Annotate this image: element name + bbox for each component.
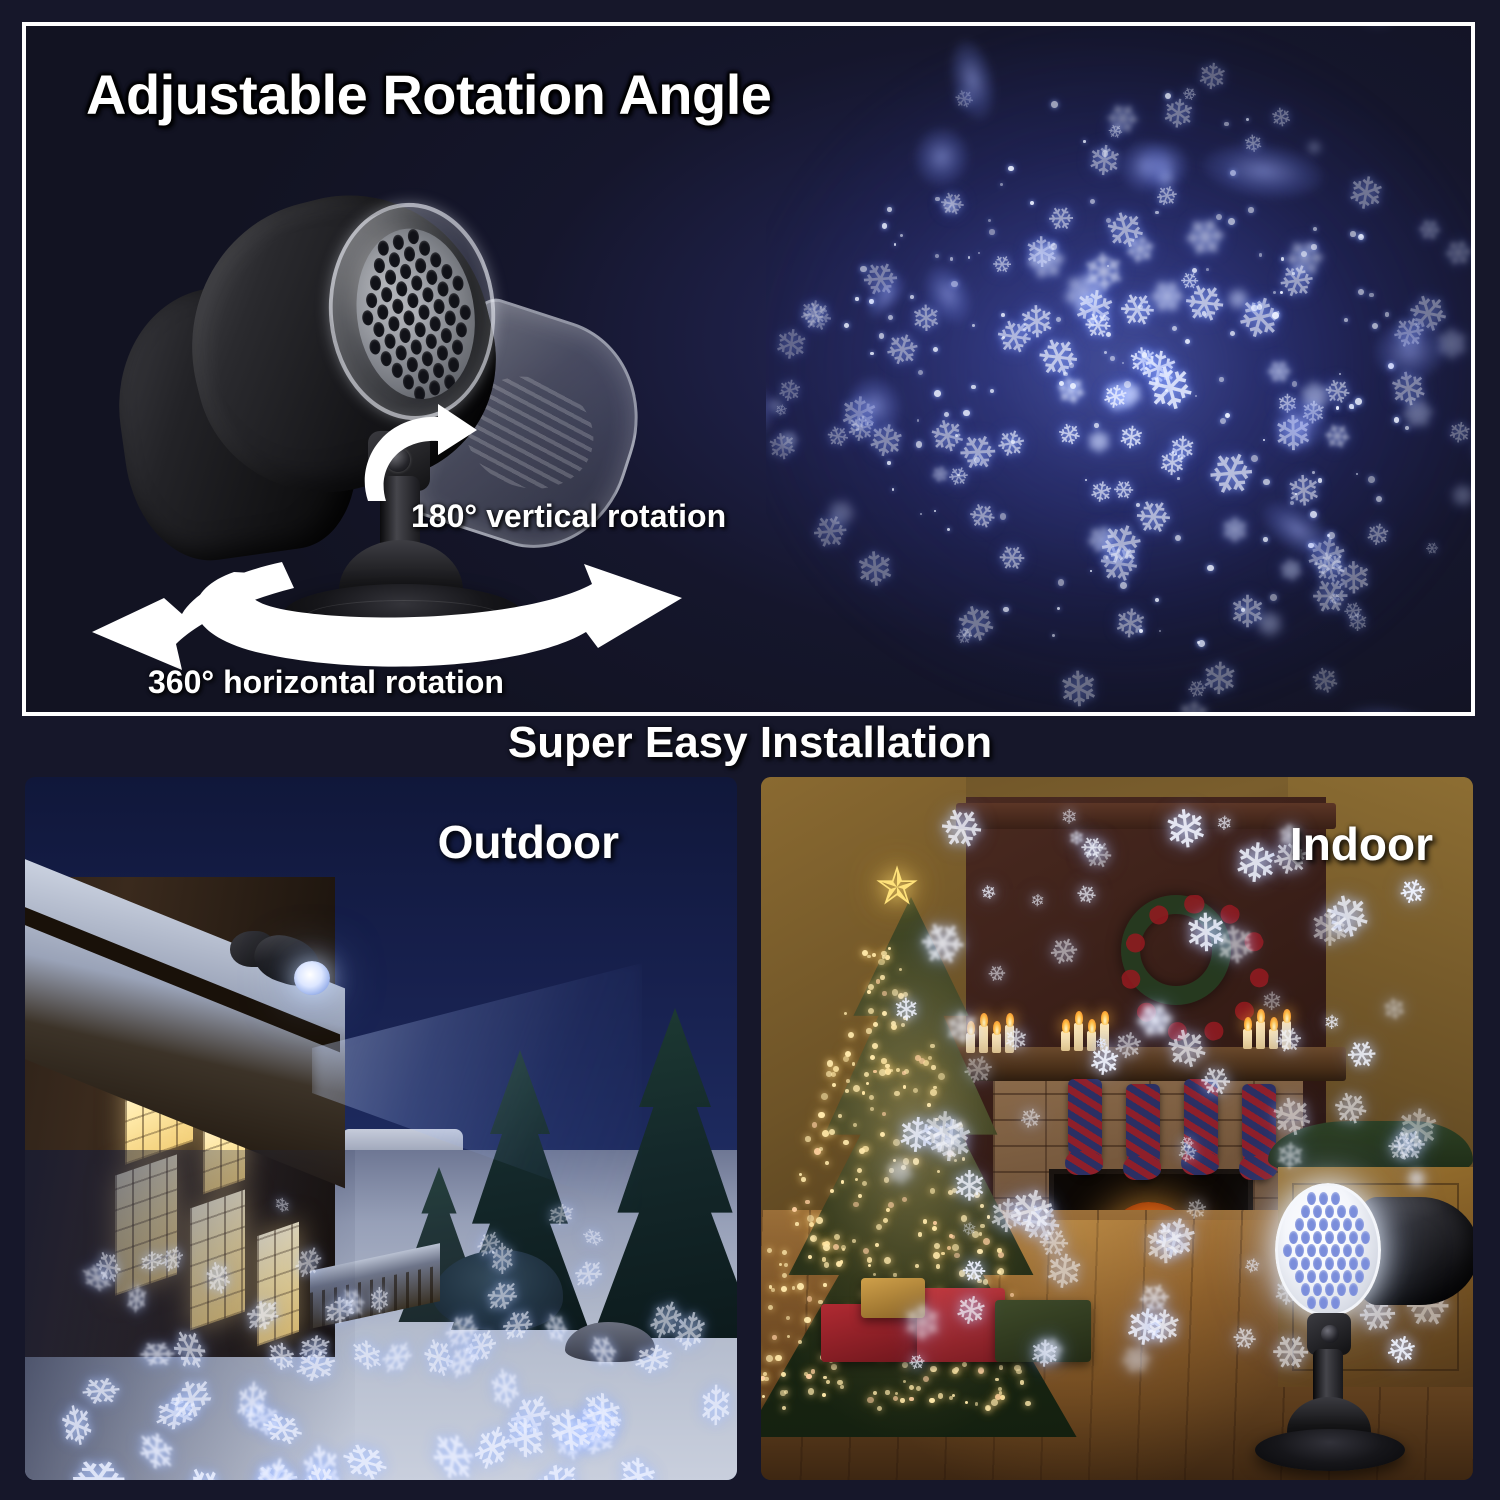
light-particle [1085,479,1087,481]
light-particle [1292,381,1297,386]
light-particle [955,434,958,437]
led-dot [1349,1283,1358,1296]
tree-light [876,1224,882,1230]
tree-light [779,1263,782,1266]
light-particle [1241,608,1245,612]
tree-light [978,1368,984,1374]
tree-light [784,1390,788,1394]
tree-light [818,1112,825,1119]
snowflake-icon: ❄ [1056,661,1099,712]
light-particle [1102,150,1109,157]
tree-light [848,1032,855,1039]
led-dot [1349,1231,1358,1244]
snowflake-icon: ❄ [1043,204,1077,233]
tree-light [782,1406,786,1410]
snowflake-icon: ❄ [138,1247,165,1279]
light-particle [1202,311,1206,315]
tree-light [885,955,890,960]
tree-light [890,1069,894,1073]
led-dot [1325,1283,1334,1296]
tree-light [809,1222,814,1227]
led-hole [405,355,419,374]
light-particle [1195,395,1197,397]
tree-light [952,1244,959,1251]
led-dot [1313,1231,1322,1244]
light-particle [1172,326,1177,331]
led-hole [450,338,464,357]
snowflake-icon: ❄ [986,963,1010,983]
tree-light [866,1028,871,1033]
light-particle [1175,535,1181,541]
tree-light [795,1222,799,1226]
tree-light [782,1273,787,1278]
light-smear [1335,695,1462,712]
tree-light [830,1189,834,1193]
tree-light [822,1393,826,1397]
tree-light [885,1390,889,1394]
led-hole [406,291,420,310]
light-particle [1124,381,1131,388]
led-hole [369,274,383,293]
led-hole [443,309,457,328]
tree-light [902,1197,907,1202]
led-hole [402,309,416,328]
tree-light [886,1208,890,1212]
led-hole [387,250,401,269]
led-hole [435,344,449,363]
tree-light [784,1263,788,1267]
light-particle [1230,331,1235,336]
tree-light [832,1083,836,1087]
installation-heading: Super Easy Installation [0,718,1500,768]
led-dot [1307,1296,1316,1309]
light-particle [1001,313,1005,317]
tree-light [771,1288,775,1292]
led-hole [372,256,386,275]
snowflake-icon: ❄ [688,1370,737,1437]
led-hole [372,320,386,339]
led-hole [454,320,468,339]
tree-light [798,1340,802,1344]
led-dot [1331,1192,1340,1205]
light-particle [963,410,970,417]
tree-light [841,1245,846,1250]
tree-light [787,1335,790,1338]
led-dot [1361,1231,1370,1244]
led-dot [1319,1296,1328,1309]
light-particle [860,266,867,273]
projector-adjust-screw [1321,1325,1339,1343]
snowflake-icon: ❄ [544,1201,578,1231]
tree-light [902,1071,906,1075]
light-particle [1259,253,1262,256]
tree-light [918,1232,923,1237]
tree-light [845,1089,849,1093]
tree-light [799,1173,802,1176]
light-particle [1003,607,1008,612]
tree-light [931,1065,935,1069]
tree-star-icon: ✯ [873,863,921,911]
led-hole [387,314,401,333]
tree-light [934,1243,940,1249]
light-smear [1329,26,1415,39]
tree-light [843,1140,848,1145]
tree-light [862,1091,865,1094]
tree-light [885,1064,890,1069]
horizontal-rotation-label: 360° horizontal rotation [148,664,504,701]
light-particle [1063,372,1068,377]
tree-light [1025,1401,1031,1407]
led-dot [1301,1257,1310,1270]
light-particle [917,419,920,422]
indoor-scene-panel: ✯ ❄❄❄❄❄❄❄❄❄❄❄❄❄❄❄❄❄❄❄❄❄❄❄❄❄❄❄❄❄❄❄❄❄❄❄❄❄❄… [761,777,1473,1480]
tree-light [823,1376,827,1380]
page-title: Adjustable Rotation Angle [86,62,771,127]
snowflake-icon: ❄ [1179,1135,1197,1151]
light-particle [1000,513,1006,519]
tree-light [954,1367,959,1372]
led-hole [424,332,438,351]
tree-light [857,1168,862,1173]
tree-light [875,1243,879,1247]
snowflake-icon: ❄ [1132,998,1183,1042]
led-hole [391,297,405,316]
led-hole [406,227,420,246]
projector-device-illustration [96,176,696,696]
tree-light [882,1112,886,1116]
projector-lens [1275,1183,1381,1317]
tree-light [999,1391,1002,1394]
tree-light [853,1202,859,1208]
led-dot [1295,1270,1304,1283]
adjustable-rotation-panel: ❄❄❄❄❄❄❄❄❄❄❄❄❄❄❄❄❄❄❄❄❄❄❄❄❄❄❄❄❄❄❄❄❄❄❄❄❄❄❄❄… [22,22,1475,716]
tree-light [880,975,885,980]
light-particle [1216,214,1222,220]
mounted-projector [220,925,330,1005]
light-particle [1069,363,1074,368]
tree-light [826,1380,830,1384]
tree-light [933,1221,937,1225]
light-particle [910,295,914,299]
led-dot [1349,1257,1358,1270]
snowflake-icon: ❄ [1017,296,1056,342]
light-particle [855,297,858,300]
light-particle [1273,291,1276,294]
tree-light [876,979,880,983]
led-dot [1343,1244,1352,1257]
tree-light [995,1378,999,1382]
tree-light [810,1235,817,1242]
tree-light [916,1386,921,1391]
led-dot [1307,1270,1316,1283]
led-hole [439,326,453,345]
light-particle [1088,298,1092,302]
tree-light [1020,1380,1025,1385]
led-hole [425,268,439,287]
snowflake-icon: ❄ [902,1296,943,1345]
led-dot [1337,1205,1346,1218]
tree-light [869,1095,874,1100]
candle [1256,1021,1265,1049]
led-dot [1325,1205,1334,1218]
tree-light [894,1091,899,1096]
snowflake-icon: ❄ [336,1287,373,1318]
light-particle [882,223,888,229]
led-hole [409,338,423,357]
led-dot [1343,1218,1352,1231]
light-particle [1138,305,1143,310]
led-grille [340,210,492,418]
light-particle [1000,183,1003,186]
light-particle [1368,476,1375,483]
tree-light [873,1391,877,1395]
snowflake-icon: ❄ [569,1250,608,1297]
tree-light [933,1086,937,1090]
led-hole [440,262,454,281]
tree-light [903,1380,906,1383]
snowflake-icon: ❄ [56,1447,140,1480]
led-hole [398,326,412,345]
led-dot [1355,1244,1364,1257]
snowflake-icon: ❄ [914,917,975,969]
tree-light [938,1073,945,1080]
led-hole [379,349,393,368]
snowflake-icon: ❄ [1215,814,1233,835]
tree-light [772,1335,777,1340]
led-dot [1319,1218,1328,1231]
snowflake-icon: ❄ [72,1367,131,1414]
snowflake-icon: ❄ [959,1050,1002,1088]
led-hole [414,256,428,275]
led-hole [428,379,442,398]
snowflake-icon: ❄ [853,541,897,592]
tree-light [792,1286,796,1290]
projector-lens [294,961,330,995]
tree-light [873,1070,876,1073]
light-particle [1139,629,1143,633]
snowflake-icon: ❄ [1179,86,1198,103]
tree-light [938,1393,944,1399]
light-particle [892,488,895,491]
indoor-projector-device [1251,1167,1473,1477]
led-hole [451,274,465,293]
light-particle [1292,272,1295,275]
light-particle [1312,471,1315,474]
snowflake-icon: ❄ [809,510,857,552]
tree-light [951,1235,955,1239]
tree-light [806,1374,812,1380]
led-hole [368,338,382,357]
light-particle [1083,140,1085,142]
tree-light [923,1219,928,1224]
light-particle [1263,439,1265,441]
candle-flame [1283,1009,1291,1023]
tree-light [868,984,874,990]
light-particle [870,352,874,356]
tree-light [827,1060,834,1067]
tree-light [877,1406,882,1411]
led-dot [1313,1205,1322,1218]
snowflake-icon: ❄ [1270,260,1319,303]
light-particle [1197,641,1200,644]
light-particle [1263,537,1268,542]
tree-light [899,968,902,971]
snowflake-icon: ❄ [1220,511,1249,545]
snowflake-icon: ❄ [326,1433,402,1480]
projector-mount-base [1255,1429,1405,1471]
led-dot [1307,1244,1316,1257]
tree-light [829,1129,835,1135]
tree-light [872,953,876,957]
tree-light [853,1085,860,1092]
tree-light [893,1396,898,1401]
tree-light [896,1068,900,1072]
indoor-label: Indoor [1290,817,1433,871]
tree-light [823,1244,830,1251]
tree-light [807,1215,814,1222]
tree-light [845,1051,851,1057]
tree-light [868,1008,874,1014]
light-particle [974,457,980,463]
led-hole [361,309,375,328]
tree-light [870,1055,875,1060]
led-hole [421,285,435,304]
led-dot [1313,1257,1322,1270]
tree-light [930,1089,937,1096]
snowflake-icon: ❄ [1422,541,1439,556]
led-dot [1319,1244,1328,1257]
tree-light [821,1093,828,1100]
led-dot [1319,1270,1328,1283]
tree-light [862,1181,867,1186]
snowflake-icon: ❄ [269,1194,294,1215]
tree-light [872,1043,878,1049]
led-dot [1355,1270,1364,1283]
led-hole [380,285,394,304]
snowflake-projection-field: ❄❄❄❄❄❄❄❄❄❄❄❄❄❄❄❄❄❄❄❄❄❄❄❄❄❄❄❄❄❄❄❄❄❄❄❄❄❄❄❄… [766,26,1475,712]
light-particle [1219,377,1223,381]
led-dot [1307,1192,1316,1205]
tree-light [999,1365,1004,1370]
light-particle [1369,293,1374,298]
light-particle [1142,352,1147,357]
led-hole [436,280,450,299]
led-hole [410,274,424,293]
tree-light [805,1200,809,1204]
led-dot [1319,1192,1328,1205]
tree-light [807,1296,812,1301]
tree-light [853,1123,857,1127]
tree-light [841,1180,845,1184]
light-particle [1220,418,1226,424]
tree-light [816,1217,823,1224]
tree-light [833,1066,839,1072]
tree-light [930,1366,936,1372]
light-particle [887,207,892,212]
tree-light [786,1316,790,1320]
light-particle [1058,579,1064,585]
candle [1243,1029,1252,1049]
tree-light [859,1148,865,1154]
led-dot [1331,1270,1340,1283]
tree-light [900,1398,905,1403]
tree-light [909,1397,913,1401]
snowflake-icon: ❄ [1254,606,1285,641]
led-dot [1325,1231,1334,1244]
light-particle [1051,243,1057,249]
light-particle [1110,356,1115,361]
led-dot [1337,1283,1346,1296]
tree-light [855,1178,858,1181]
tree-light [947,1246,951,1250]
tree-light [991,1399,998,1406]
light-particle [1177,477,1180,480]
led-hole [390,361,404,380]
snowflake-icon: ❄ [286,1234,330,1287]
tree-light [812,1122,817,1127]
light-particle [1272,312,1279,319]
tree-light [797,1283,804,1290]
snowflake-icon: ❄ [627,1340,680,1382]
led-dot [1313,1283,1322,1296]
snowflake-icon: ❄ [1269,1023,1307,1056]
tree-light [768,1305,773,1310]
snowflake-icon: ❄ [198,1254,236,1302]
snowflake-icon: ❄ [1306,658,1343,699]
snowflake-icon: ❄ [543,1309,573,1347]
tree-light [840,1385,844,1389]
led-hole [428,315,442,334]
light-particle [1385,312,1389,316]
light-particle [1106,218,1111,223]
led-hole [429,251,443,270]
led-dot [1331,1244,1340,1257]
snowflake-icon: ❄ [580,1332,622,1369]
light-particle [989,229,994,234]
tree-light [879,1069,886,1076]
light-particle [1355,398,1362,405]
tree-light [882,991,887,996]
led-hole [432,297,446,316]
led-hole [391,233,405,252]
light-particle [935,197,939,201]
tree-light [781,1286,787,1292]
tree-light [846,1079,850,1083]
led-dot [1337,1257,1346,1270]
tree-light [852,1239,856,1243]
light-particle [1103,555,1108,560]
tree-light [923,1376,929,1382]
led-hole [458,303,472,322]
tree-light [866,1082,869,1085]
tree-light [873,1022,878,1027]
tree-light [782,1250,787,1255]
led-dot [1331,1218,1340,1231]
snowflake-icon: ❄ [1093,517,1153,570]
led-dot [1289,1257,1298,1270]
tree-light [985,1405,991,1411]
led-hole [447,355,461,374]
tree-light [767,1248,772,1253]
snowflake-icon: ❄ [240,1287,285,1341]
tree-light [867,955,871,959]
tree-light [965,1401,968,1404]
led-hole [420,349,434,368]
tree-light [852,1062,855,1065]
light-particle [887,461,890,464]
snowflake-icon: ❄ [1085,1041,1124,1085]
snowflake-icon: ❄ [181,1460,237,1480]
